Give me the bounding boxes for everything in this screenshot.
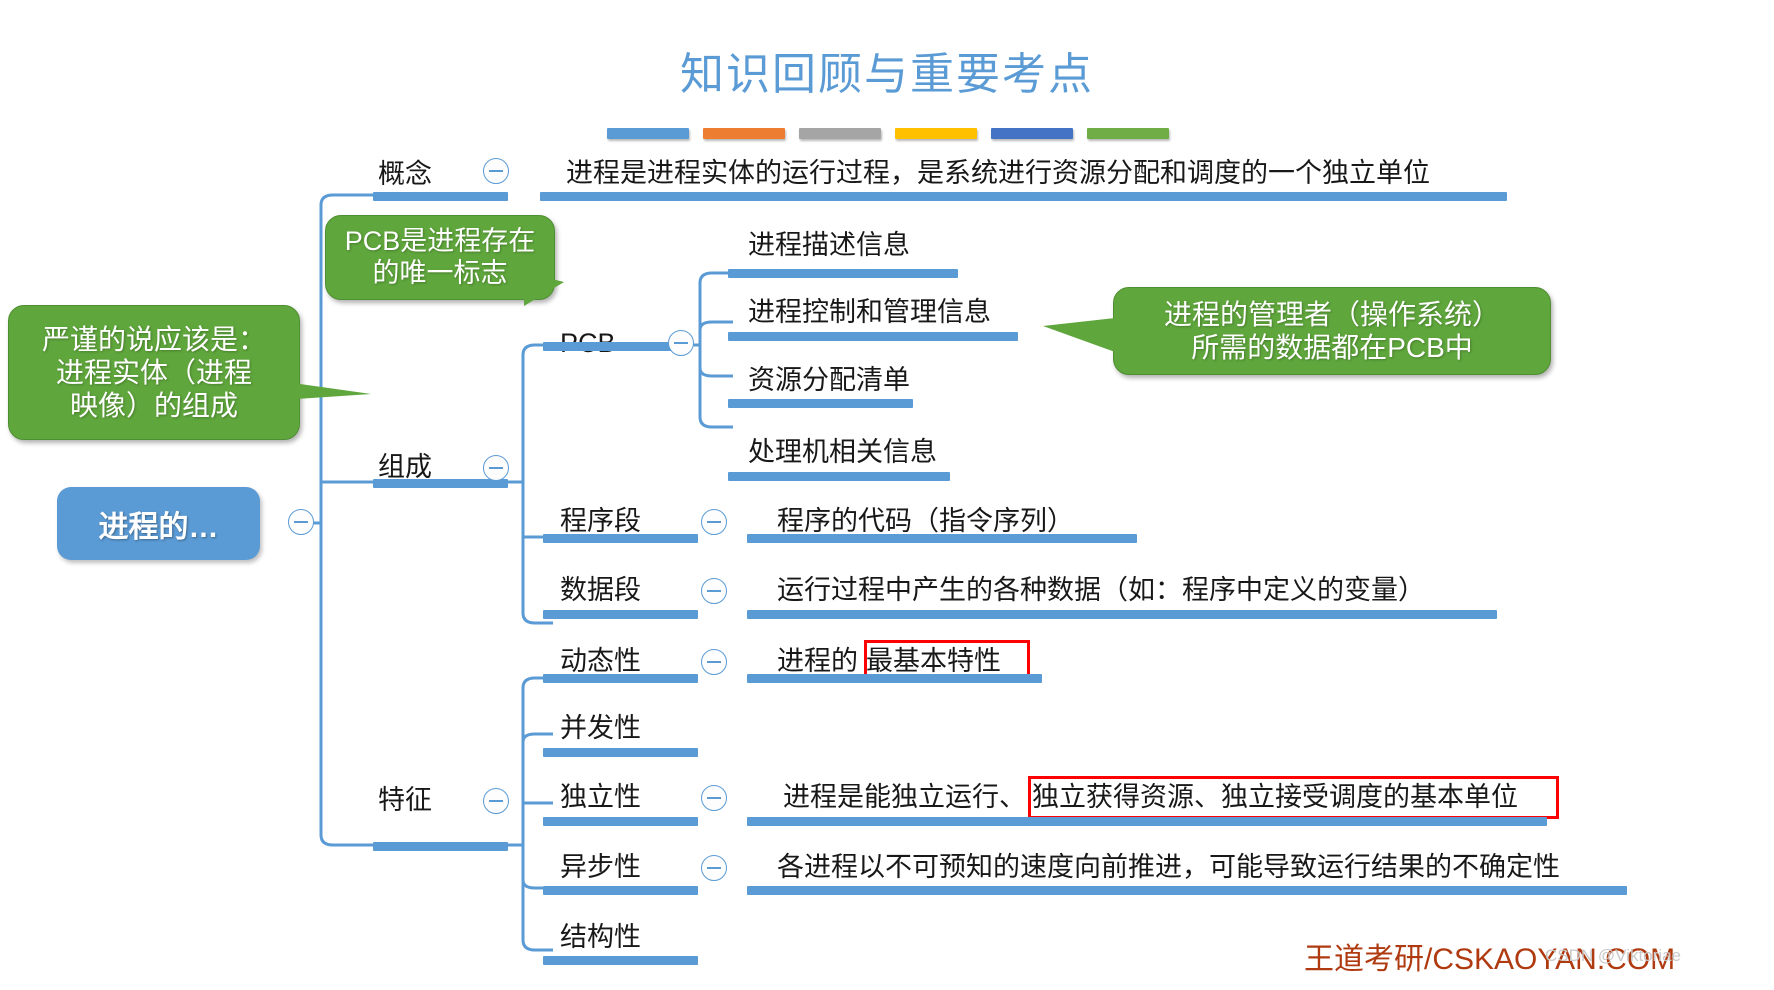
node-label-pcb-control-info[interactable]: 进程控制和管理信息 <box>748 297 991 327</box>
callout-process-entity-line2: 进程实体（进程 <box>48 356 260 389</box>
toggle-concept[interactable] <box>483 158 509 184</box>
node-label-program-segment[interactable]: 程序段 <box>560 506 641 536</box>
node-label-pcb-resource-list[interactable]: 资源分配清单 <box>748 365 910 395</box>
callout-process-entity-line3: 映像）的组成 <box>62 389 246 422</box>
toggle-data-segment[interactable] <box>701 578 727 604</box>
detail-asynchronous: 各进程以不可预知的速度向前推进，可能导致运行结果的不确定性 <box>777 852 1560 882</box>
callout-os-manager-line2: 所需的数据都在PCB中 <box>1183 331 1481 364</box>
node-bar-asynchronous <box>543 886 698 895</box>
node-label-pcb-cpu-info[interactable]: 处理机相关信息 <box>748 437 937 467</box>
detail-bar-program-segment <box>747 534 1137 543</box>
detail-program-segment: 程序的代码（指令序列） <box>777 506 1074 536</box>
node-bar-data-segment <box>543 610 698 619</box>
toggle-dynamic[interactable] <box>701 649 727 675</box>
node-bar-pcb-resource-list <box>728 399 913 408</box>
watermark-credit: CSDN @Viktoriae <box>1545 946 1681 966</box>
callout-os-manager: 进程的管理者（操作系统） 所需的数据都在PCB中 <box>1113 287 1551 375</box>
detail-bar-data-segment <box>747 610 1497 619</box>
node-label-concurrent[interactable]: 并发性 <box>560 713 641 743</box>
node-label-pcb-desc-info[interactable]: 进程描述信息 <box>748 230 910 260</box>
callout-os-manager-line1: 进程的管理者（操作系统） <box>1156 298 1508 331</box>
detail-data-segment: 运行过程中产生的各种数据（如：程序中定义的变量） <box>777 575 1425 605</box>
callout-process-entity-line1: 严谨的说应该是： <box>34 323 274 356</box>
callout-pcb-mark-text: PCB是进程存在的唯一标志 <box>326 226 554 290</box>
root-collapse-toggle[interactable] <box>288 509 314 535</box>
callout-os-manager-tail <box>1043 318 1115 352</box>
toggle-asynchronous[interactable] <box>701 855 727 881</box>
node-label-asynchronous[interactable]: 异步性 <box>560 852 641 882</box>
branch-bar-concept <box>373 192 508 201</box>
node-bar-pcb <box>543 342 673 351</box>
branch-label-features[interactable]: 特征 <box>378 785 432 815</box>
branch-connectors <box>0 0 1774 990</box>
toggle-composition[interactable] <box>483 455 509 481</box>
detail-concept: 进程是进程实体的运行过程，是系统进行资源分配和调度的一个独立单位 <box>566 158 1430 188</box>
branch-bar-features <box>373 842 508 851</box>
toggle-independent[interactable] <box>701 785 727 811</box>
callout-process-entity: 严谨的说应该是： 进程实体（进程 映像）的组成 <box>8 305 300 440</box>
node-bar-program-segment <box>543 534 698 543</box>
toggle-features[interactable] <box>483 788 509 814</box>
node-bar-dynamic <box>543 674 698 683</box>
detail-bar-asynchronous <box>747 886 1627 895</box>
detail-bar-independent <box>747 817 1547 826</box>
branch-label-composition[interactable]: 组成 <box>378 452 432 482</box>
node-bar-structural <box>543 956 698 965</box>
node-bar-concurrent <box>543 748 698 757</box>
highlight-box-independent <box>1028 776 1559 819</box>
node-bar-independent <box>543 817 698 826</box>
node-label-data-segment[interactable]: 数据段 <box>560 575 641 605</box>
detail-bar-dynamic <box>747 674 1042 683</box>
node-bar-pcb-cpu-info <box>728 472 950 481</box>
toggle-pcb[interactable] <box>668 330 694 356</box>
callout-pcb-mark: PCB是进程存在的唯一标志 <box>325 215 555 300</box>
root-node-label: 进程的… <box>57 487 260 560</box>
branch-bar-composition <box>373 479 508 488</box>
detail-dynamic-prefix: 进程的 <box>777 646 858 676</box>
detail-independent-prefix: 进程是能独立运行、 <box>783 782 1026 812</box>
node-label-dynamic[interactable]: 动态性 <box>560 646 641 676</box>
toggle-program-segment[interactable] <box>701 509 727 535</box>
callout-pcb-mark-tail <box>524 272 564 306</box>
node-label-structural[interactable]: 结构性 <box>560 922 641 952</box>
mindmap-canvas: 知识回顾与重要考点 <box>0 0 1774 990</box>
branch-label-concept[interactable]: 概念 <box>378 159 432 189</box>
detail-bar-concept <box>540 192 1507 201</box>
node-bar-pcb-control-info <box>728 332 1018 341</box>
node-bar-pcb-desc-info <box>728 269 958 278</box>
node-label-independent[interactable]: 独立性 <box>560 782 641 812</box>
